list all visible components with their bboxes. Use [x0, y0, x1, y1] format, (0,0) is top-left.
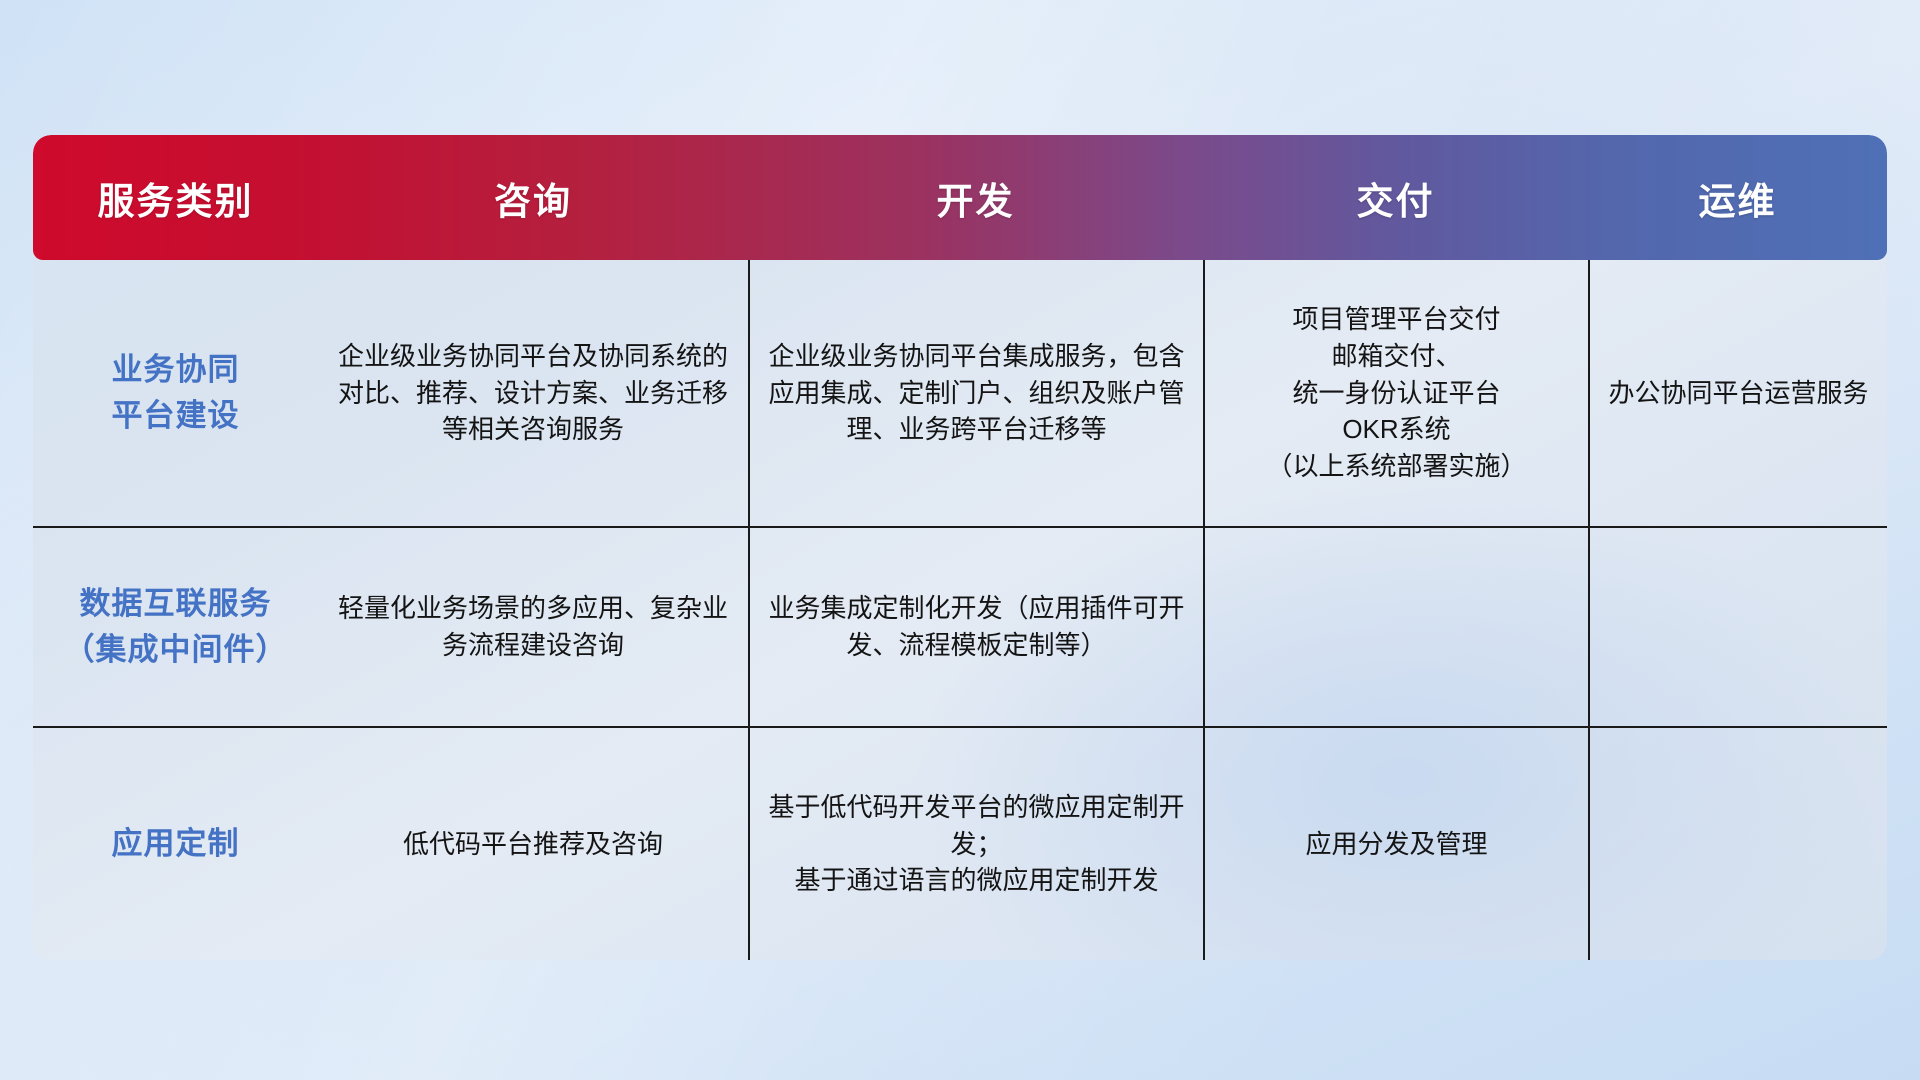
- cell-operations-row3: [1588, 728, 1887, 960]
- row-label-text: 业务协同 平台建设: [112, 347, 240, 439]
- row-label-data-interconnect: 数据互联服务 （集成中间件）: [33, 528, 318, 726]
- cell-text: 办公协同平台运营服务: [1608, 375, 1868, 412]
- cell-consulting-row2: 轻量化业务场景的多应用、复杂业务流程建设咨询: [318, 528, 748, 726]
- cell-consulting-row3: 低代码平台推荐及咨询: [318, 728, 748, 960]
- row-label-text: 应用定制: [112, 821, 240, 867]
- row-label-business-collaboration: 业务协同 平台建设: [33, 260, 318, 526]
- cell-development-row3: 基于低代码开发平台的微应用定制开发； 基于通过语言的微应用定制开发: [748, 728, 1203, 960]
- cell-consulting-row1: 企业级业务协同平台及协同系统的对比、推荐、设计方案、业务迁移等相关咨询服务: [318, 260, 748, 526]
- cell-text: 轻量化业务场景的多应用、复杂业务流程建设咨询: [328, 590, 738, 664]
- service-matrix-table-wrapper: 服务类别 咨询 开发 交付 运维 业务协同 平台建设 企业级业务协同平台及协同系…: [33, 135, 1887, 960]
- table-body: 业务协同 平台建设 企业级业务协同平台及协同系统的对比、推荐、设计方案、业务迁移…: [33, 260, 1887, 960]
- cell-development-row1: 企业级业务协同平台集成服务，包含应用集成、定制门户、组织及账户管理、业务跨平台迁…: [748, 260, 1203, 526]
- cell-text: 企业级业务协同平台集成服务，包含应用集成、定制门户、组织及账户管理、业务跨平台迁…: [760, 338, 1193, 449]
- cell-operations-row2: [1588, 528, 1887, 726]
- table-row: 数据互联服务 （集成中间件） 轻量化业务场景的多应用、复杂业务流程建设咨询 业务…: [33, 528, 1887, 728]
- row-label-text: 数据互联服务 （集成中间件）: [64, 581, 288, 673]
- cell-delivery-row2: [1203, 528, 1588, 726]
- cell-text: 应用分发及管理: [1305, 826, 1487, 863]
- table-header-row: 服务类别 咨询 开发 交付 运维: [33, 135, 1887, 260]
- table-row: 应用定制 低代码平台推荐及咨询 基于低代码开发平台的微应用定制开发； 基于通过语…: [33, 728, 1887, 960]
- column-header-category: 服务类别: [33, 135, 318, 260]
- row-label-app-customization: 应用定制: [33, 728, 318, 960]
- column-header-operations: 运维: [1588, 135, 1887, 260]
- cell-text: 业务集成定制化开发（应用插件可开发、流程模板定制等）: [760, 590, 1193, 664]
- cell-delivery-row1: 项目管理平台交付 邮箱交付、 统一身份认证平台 OKR系统 （以上系统部署实施）: [1203, 260, 1588, 526]
- cell-operations-row1: 办公协同平台运营服务: [1588, 260, 1887, 526]
- cell-text: 低代码平台推荐及咨询: [403, 826, 663, 863]
- table-row: 业务协同 平台建设 企业级业务协同平台及协同系统的对比、推荐、设计方案、业务迁移…: [33, 260, 1887, 528]
- service-matrix-table: 服务类别 咨询 开发 交付 运维 业务协同 平台建设 企业级业务协同平台及协同系…: [33, 135, 1887, 960]
- cell-delivery-row3: 应用分发及管理: [1203, 728, 1588, 960]
- cell-development-row2: 业务集成定制化开发（应用插件可开发、流程模板定制等）: [748, 528, 1203, 726]
- cell-text: 基于低代码开发平台的微应用定制开发； 基于通过语言的微应用定制开发: [760, 789, 1193, 900]
- column-header-consulting: 咨询: [318, 135, 748, 260]
- cell-text: 项目管理平台交付 邮箱交付、 统一身份认证平台 OKR系统 （以上系统部署实施）: [1266, 301, 1526, 486]
- column-header-development: 开发: [748, 135, 1203, 260]
- column-header-delivery: 交付: [1203, 135, 1588, 260]
- cell-text: 企业级业务协同平台及协同系统的对比、推荐、设计方案、业务迁移等相关咨询服务: [328, 338, 738, 449]
